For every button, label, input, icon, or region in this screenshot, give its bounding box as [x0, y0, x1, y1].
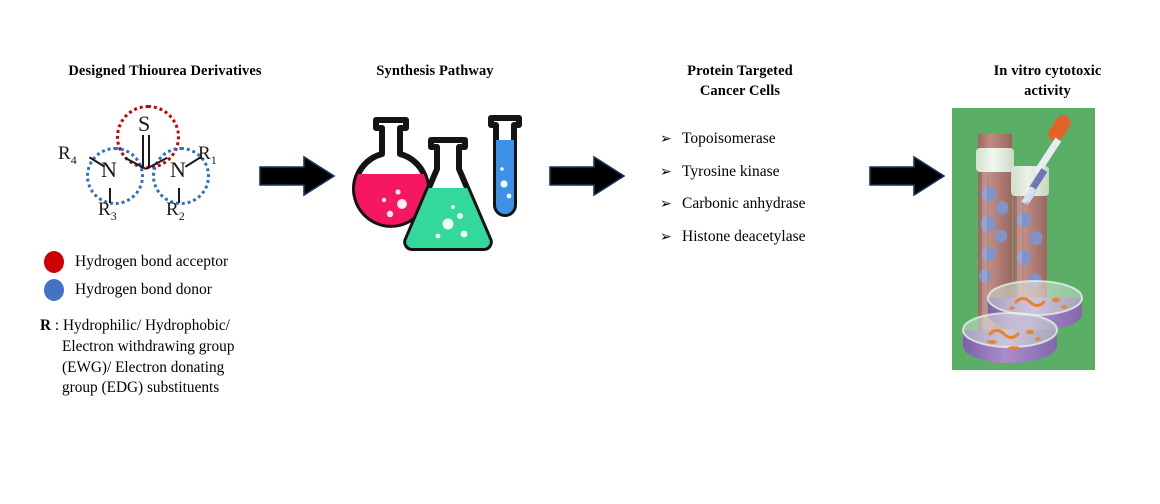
panel-title-assay-line2: activity: [1024, 83, 1071, 99]
cytotoxicity-assay-illustration: [952, 108, 1095, 370]
test-tube-icon: [487, 118, 527, 220]
atom-label-nitrogen-right: N: [170, 157, 186, 183]
list-item: ➢ Tyrosine kinase: [660, 163, 890, 181]
flow-arrow-1: [258, 155, 336, 202]
bullet-arrow-icon: ➢: [660, 164, 682, 180]
r-line-2: Electron withdrawing group: [40, 337, 298, 358]
target-protein-list: ➢ Topoisomerase ➢ Tyrosine kinase ➢ Carb…: [660, 130, 890, 260]
list-item-label: Tyrosine kinase: [682, 163, 780, 181]
legend-label-acceptor: Hydrogen bond acceptor: [75, 253, 228, 271]
petri-dish-front-icon: [963, 313, 1057, 363]
substituent-label-r2: R2: [166, 199, 185, 224]
list-item-label: Histone deacetylase: [682, 228, 806, 246]
list-item-label: Topoisomerase: [682, 130, 776, 148]
list-item: ➢ Histone deacetylase: [660, 228, 890, 246]
atom-label-nitrogen-left: N: [101, 157, 117, 183]
panel-title-assay-line1: In vitro cytotoxic: [994, 63, 1102, 79]
panel-title-synthesis: Synthesis Pathway: [330, 62, 540, 82]
legend-dot-acceptor: [44, 251, 64, 273]
panel-title-targets-line1: Protein Targeted: [687, 63, 793, 79]
list-item: ➢ Topoisomerase: [660, 130, 890, 148]
panel-title-assay: In vitro cytotoxic activity: [940, 62, 1155, 101]
r-line-1: Hydrophilic/ Hydrophobic/: [63, 317, 230, 334]
legend-dot-donor: [44, 279, 64, 301]
r-separator: :: [51, 317, 63, 334]
bond-c-s-a: [142, 135, 144, 167]
substituent-label-r3: R3: [98, 199, 117, 224]
legend-label-donor: Hydrogen bond donor: [75, 281, 212, 299]
flow-arrow-3: [868, 155, 946, 202]
panel-title-structure: Designed Thiourea Derivatives: [20, 62, 310, 82]
atom-label-sulfur: S: [138, 111, 150, 137]
laboratory-glassware-illustration: [352, 112, 532, 264]
substituent-label-r4: R4: [58, 143, 77, 168]
bullet-arrow-icon: ➢: [660, 229, 682, 245]
bond-c-s-b: [148, 135, 150, 167]
list-item: ➢ Carbonic anhydrase: [660, 195, 890, 213]
r-line-4: group (EDG) substituents: [40, 378, 298, 399]
r-line-3: (EWG)/ Electron donating: [40, 358, 298, 379]
r-group-definition: R : Hydrophilic/ Hydrophobic/ Electron w…: [40, 316, 298, 399]
bullet-arrow-icon: ➢: [660, 131, 682, 147]
legend-item-acceptor: Hydrogen bond acceptor: [44, 251, 228, 273]
panel-title-targets: Protein Targeted Cancer Cells: [640, 62, 840, 101]
panel-title-targets-line2: Cancer Cells: [700, 83, 780, 99]
thiourea-structure: S N N R4 R3 R1 R2: [60, 105, 250, 225]
flow-arrow-2: [548, 155, 626, 202]
substituent-label-r1: R1: [198, 143, 217, 168]
legend-item-donor: Hydrogen bond donor: [44, 279, 212, 301]
bullet-arrow-icon: ➢: [660, 196, 682, 212]
list-item-label: Carbonic anhydrase: [682, 195, 806, 213]
r-symbol: R: [40, 317, 51, 334]
